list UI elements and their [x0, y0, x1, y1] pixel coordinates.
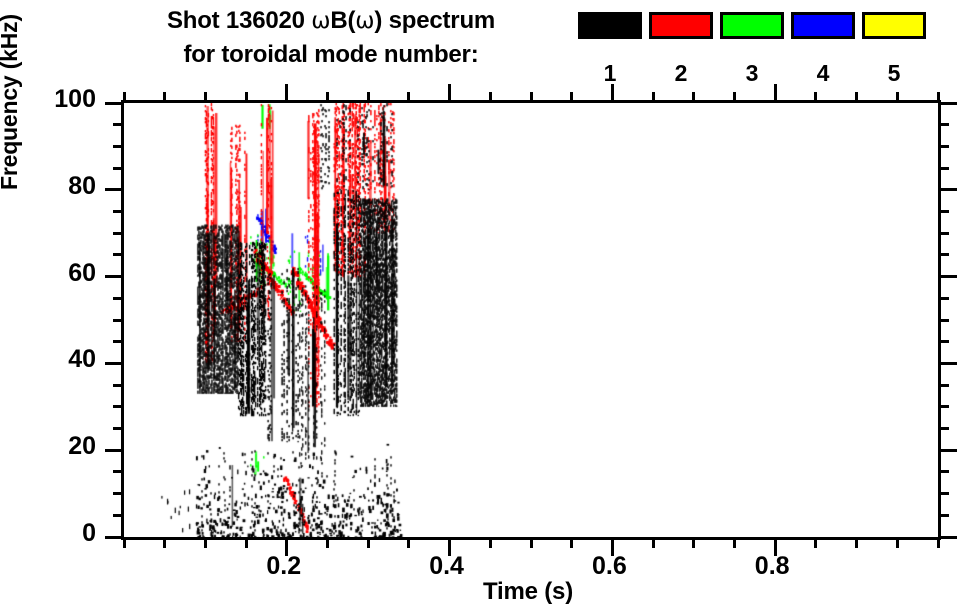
figure-title: Shot 136020 ωB(ω) spectrum for toroidal … — [96, 4, 566, 72]
y-tick-minor — [113, 470, 124, 473]
y-tick-major — [105, 102, 124, 105]
x-tick-minor — [326, 537, 329, 548]
spectrogram-canvas — [124, 103, 938, 537]
y-tick-minor — [938, 145, 949, 148]
x-axis-title: Time (s) — [121, 578, 935, 606]
x-tick-minor — [367, 537, 370, 548]
x-tick-minor — [733, 92, 736, 103]
y-tick-minor — [113, 167, 124, 170]
x-tick-minor — [489, 537, 492, 548]
legend-label-2: 2 — [649, 62, 713, 85]
y-tick-major — [105, 362, 124, 365]
x-tick-minor — [814, 537, 817, 548]
x-tick-minor — [937, 92, 940, 103]
x-tick-minor — [367, 92, 370, 103]
y-tick-minor — [113, 145, 124, 148]
y-tick-label-100: 100 — [26, 87, 96, 112]
plot-area — [121, 100, 941, 540]
spectrogram-figure: Shot 136020 ωB(ω) spectrum for toroidal … — [0, 0, 963, 615]
x-tick-minor — [123, 537, 126, 548]
x-tick-minor — [855, 537, 858, 548]
x-tick-minor — [123, 92, 126, 103]
x-tick-minor — [204, 537, 207, 548]
y-tick-minor — [113, 492, 124, 495]
legend-swatch-4 — [791, 12, 855, 39]
x-tick-minor — [489, 92, 492, 103]
y-tick-minor — [113, 384, 124, 387]
y-tick-major — [938, 362, 957, 365]
x-tick-minor — [733, 537, 736, 548]
x-tick-minor — [326, 92, 329, 103]
title-line-1: Shot 136020 ωB(ω) spectrum — [96, 4, 566, 38]
y-tick-minor — [938, 123, 949, 126]
x-tick-minor — [245, 92, 248, 103]
x-tick-minor — [204, 92, 207, 103]
x-tick-minor — [652, 92, 655, 103]
y-tick-major — [105, 188, 124, 191]
y-tick-major — [105, 536, 124, 539]
x-tick-minor — [163, 92, 166, 103]
x-tick-minor — [245, 537, 248, 548]
x-tick-minor — [407, 92, 410, 103]
y-tick-label-80: 80 — [26, 174, 96, 199]
x-tick-minor — [814, 92, 817, 103]
y-tick-minor — [113, 232, 124, 235]
y-tick-minor — [938, 232, 949, 235]
y-tick-label-60: 60 — [26, 261, 96, 286]
y-tick-major — [938, 449, 957, 452]
legend-swatch-3 — [720, 12, 784, 39]
y-tick-minor — [938, 470, 949, 473]
omega-symbol-2: ω — [355, 8, 374, 34]
y-tick-minor — [938, 167, 949, 170]
x-tick-label-0.6: 0.6 — [569, 554, 649, 579]
x-tick-minor — [692, 92, 695, 103]
x-tick-minor — [163, 537, 166, 548]
y-tick-minor — [113, 210, 124, 213]
mode-legend: 12345 — [578, 12, 938, 90]
legend-swatch-2 — [649, 12, 713, 39]
y-tick-major — [105, 275, 124, 278]
y-tick-major — [938, 188, 957, 191]
x-tick-minor — [855, 92, 858, 103]
y-tick-minor — [113, 123, 124, 126]
x-tick-minor — [692, 537, 695, 548]
y-tick-major — [938, 275, 957, 278]
y-tick-minor — [938, 405, 949, 408]
legend-swatch-1 — [578, 12, 642, 39]
legend-label-1: 1 — [578, 62, 642, 85]
x-tick-label-0.8: 0.8 — [732, 554, 812, 579]
title-shot-text: Shot 136020 — [167, 7, 311, 34]
plot-canvas-wrapper — [124, 103, 938, 537]
omega-symbol-1: ω — [311, 8, 330, 34]
title-spectrum-text: ) spectrum — [374, 7, 495, 34]
legend-swatch-5 — [862, 12, 926, 39]
y-tick-minor — [938, 514, 949, 517]
legend-label-3: 3 — [720, 62, 784, 85]
x-tick-label-0.4: 0.4 — [407, 554, 487, 579]
y-tick-minor — [113, 297, 124, 300]
x-tick-minor — [407, 537, 410, 548]
title-b-text: B( — [330, 7, 355, 34]
x-tick-minor — [530, 92, 533, 103]
legend-label-5: 5 — [862, 62, 926, 85]
y-tick-label-20: 20 — [26, 434, 96, 459]
y-axis-title: Frequency (kHz) — [0, 14, 23, 190]
x-tick-major — [448, 84, 451, 103]
legend-label-4: 4 — [791, 62, 855, 85]
y-tick-minor — [938, 297, 949, 300]
y-tick-minor — [113, 319, 124, 322]
y-tick-minor — [113, 514, 124, 517]
y-tick-minor — [113, 427, 124, 430]
x-tick-minor — [530, 537, 533, 548]
y-tick-minor — [938, 253, 949, 256]
x-tick-minor — [896, 92, 899, 103]
y-tick-minor — [938, 492, 949, 495]
y-tick-minor — [938, 340, 949, 343]
y-tick-major — [938, 536, 957, 539]
x-tick-major — [611, 84, 614, 103]
y-tick-minor — [938, 384, 949, 387]
x-tick-minor — [652, 537, 655, 548]
y-tick-major — [938, 102, 957, 105]
x-tick-minor — [937, 537, 940, 548]
y-tick-minor — [113, 340, 124, 343]
y-tick-minor — [113, 405, 124, 408]
y-tick-minor — [113, 253, 124, 256]
y-tick-label-40: 40 — [26, 347, 96, 372]
y-tick-minor — [938, 427, 949, 430]
x-tick-major — [774, 84, 777, 103]
y-tick-major — [105, 449, 124, 452]
title-line-2: for toroidal mode number: — [96, 38, 566, 72]
y-tick-minor — [938, 319, 949, 322]
x-tick-minor — [896, 537, 899, 548]
x-tick-minor — [570, 92, 573, 103]
y-tick-label-0: 0 — [26, 521, 96, 546]
x-tick-minor — [570, 537, 573, 548]
x-tick-label-0.2: 0.2 — [244, 554, 324, 579]
x-tick-major — [285, 84, 288, 103]
y-tick-minor — [938, 210, 949, 213]
